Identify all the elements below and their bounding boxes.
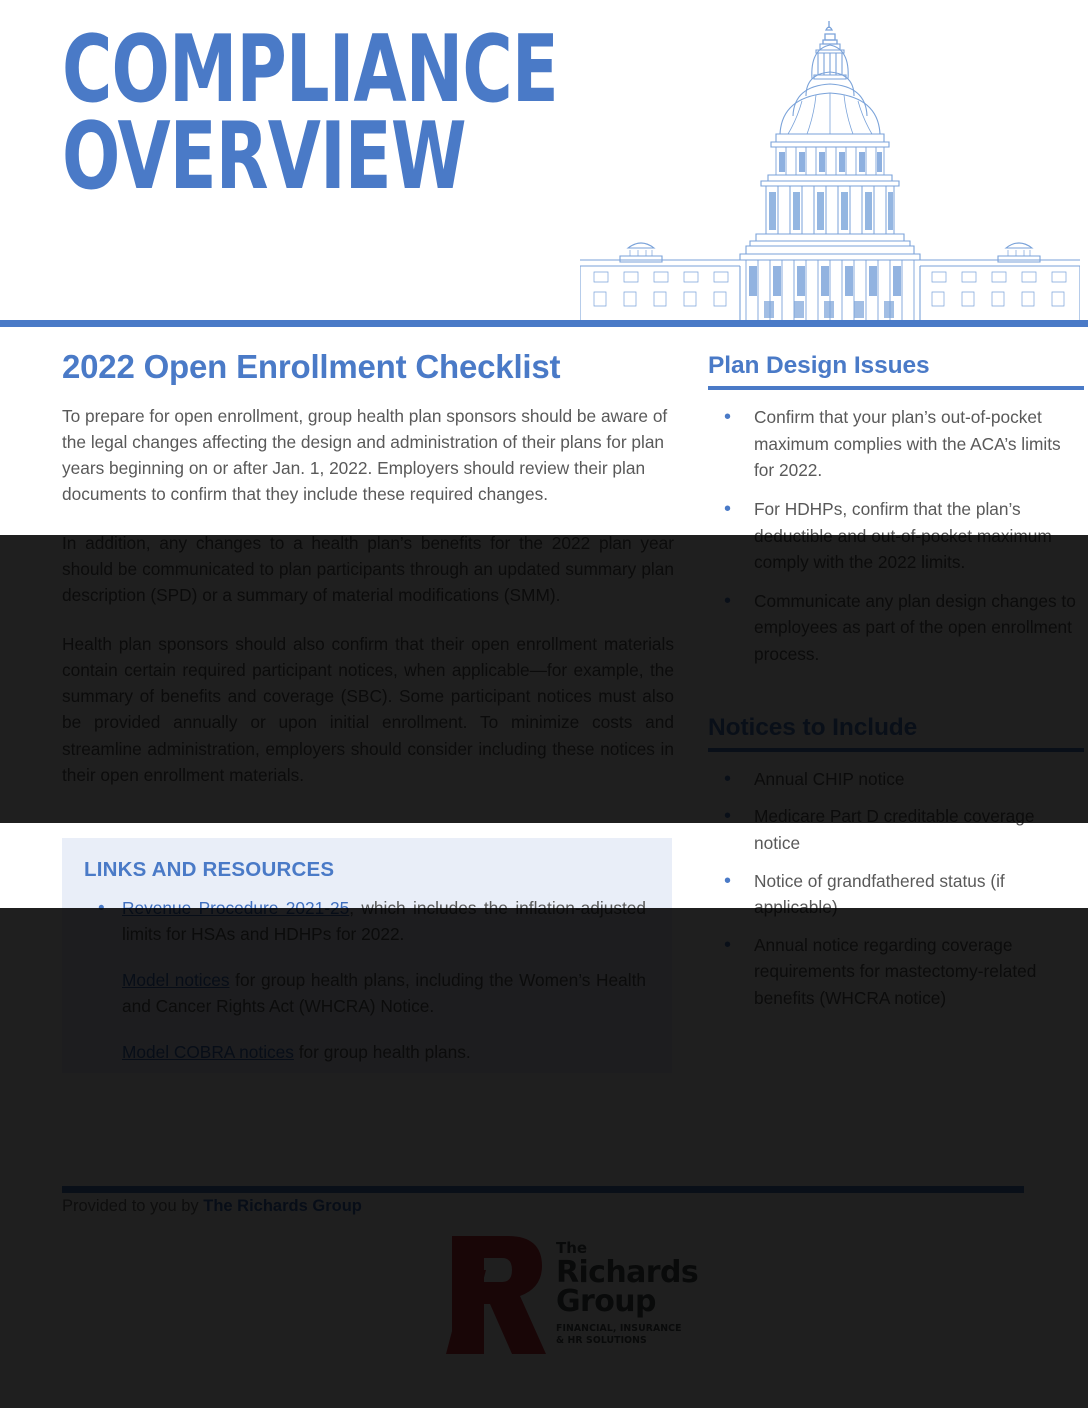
link-item: Model COBRA notices for group health pla… <box>84 1040 646 1066</box>
header-divider-rule <box>0 320 1088 327</box>
list-item: Medicare Part D creditable coverage noti… <box>708 803 1084 856</box>
list-item: Confirm that your plan’s out-of-pocket m… <box>708 404 1084 484</box>
sidebar-section-plan-design: Plan Design Issues Confirm that your pla… <box>708 352 1084 668</box>
list-item: Annual CHIP notice <box>708 766 1084 793</box>
footer-credit-brand: The Richards Group <box>203 1197 362 1215</box>
page-title-line-1: COMPLIANCE <box>62 26 570 113</box>
body-paragraph-1: To prepare for open enrollment, group he… <box>62 403 674 508</box>
body-paragraph-2: In addition, any changes to a health pla… <box>62 530 674 609</box>
main-content-column: 2022 Open Enrollment Checklist To prepar… <box>62 350 674 810</box>
link-item: Revenue Procedure 2021-25, which include… <box>84 896 646 948</box>
link-item: Model notices for group health plans, in… <box>84 968 646 1020</box>
notices-list: Annual CHIP notice Medicare Part D credi… <box>708 766 1084 1012</box>
richards-group-logo: The Richards Group FINANCIAL, INSURANCE … <box>446 1236 686 1356</box>
links-box-heading: LINKS AND RESOURCES <box>84 858 646 882</box>
list-item: Notice of grandfathered status (if appli… <box>708 868 1084 921</box>
page-title: COMPLIANCE OVERVIEW <box>62 26 570 201</box>
links-and-resources-box: LINKS AND RESOURCES Revenue Procedure 20… <box>62 838 672 1073</box>
sidebar-section-notices: Notices to Include Annual CHIP notice Me… <box>708 714 1084 1012</box>
sidebar: Plan Design Issues Confirm that your pla… <box>708 352 1084 1042</box>
link-model-notices[interactable]: Model notices <box>122 970 230 990</box>
link-revenue-procedure[interactable]: Revenue Procedure 2021-25 <box>122 898 349 918</box>
link-item-text: for group health plans. <box>294 1042 471 1062</box>
footer-divider-rule <box>62 1186 1024 1193</box>
sidebar-heading-rule <box>708 386 1084 390</box>
logo-line-richards: Richards <box>556 1258 686 1287</box>
sidebar-heading-notices: Notices to Include <box>708 714 1084 742</box>
body-paragraph-3: Health plan sponsors should also confirm… <box>62 631 674 789</box>
logo-r-mark <box>446 1236 550 1354</box>
logo-line-the: The <box>556 1241 686 1256</box>
footer-credit: Provided to you by The Richards Group <box>62 1197 362 1216</box>
page-title-line-2: OVERVIEW <box>62 113 570 200</box>
us-capitol-illustration <box>580 16 1080 326</box>
document-page: COMPLIANCE OVERVIEW 2022 Open Enrollment… <box>0 0 1088 1408</box>
list-item: Communicate any plan design changes to e… <box>708 588 1084 668</box>
footer-credit-prefix: Provided to you by <box>62 1197 203 1215</box>
page-header: COMPLIANCE OVERVIEW <box>0 0 1088 326</box>
logo-wordmark: The Richards Group FINANCIAL, INSURANCE … <box>556 1241 686 1347</box>
section-title: 2022 Open Enrollment Checklist <box>62 350 674 385</box>
logo-tagline-line-1: FINANCIAL, INSURANCE <box>556 1323 686 1335</box>
sidebar-heading-rule <box>708 748 1084 752</box>
list-item: For HDHPs, confirm that the plan’s deduc… <box>708 496 1084 576</box>
logo-tagline-line-2: & HR SOLUTIONS <box>556 1335 686 1347</box>
plan-design-list: Confirm that your plan’s out-of-pocket m… <box>708 404 1084 668</box>
list-item: Annual notice regarding coverage require… <box>708 932 1084 1012</box>
sidebar-heading-plan-design: Plan Design Issues <box>708 352 1084 380</box>
link-model-cobra-notices[interactable]: Model COBRA notices <box>122 1042 294 1062</box>
logo-line-group: Group <box>556 1287 686 1316</box>
logo-tagline: FINANCIAL, INSURANCE & HR SOLUTIONS <box>556 1323 686 1347</box>
